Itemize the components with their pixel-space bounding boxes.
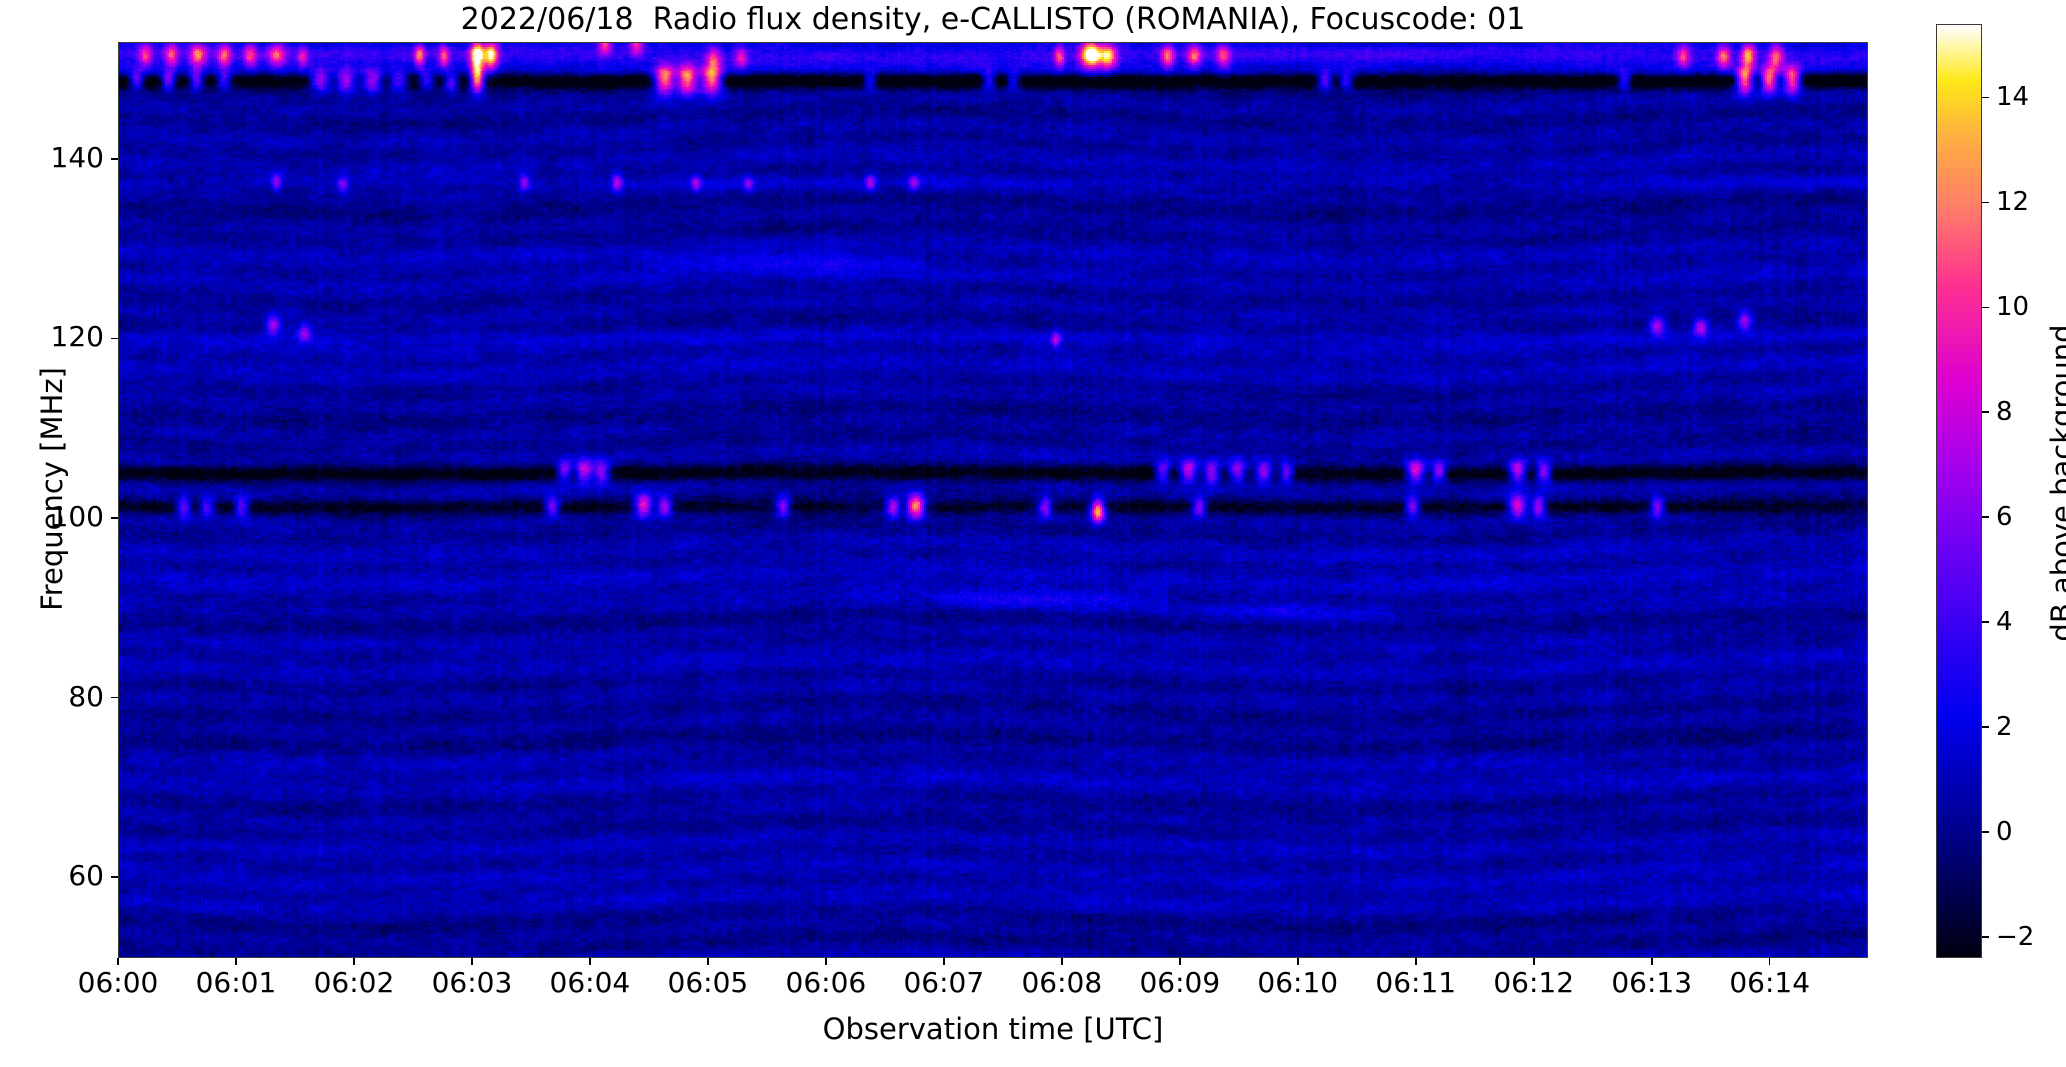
x-tick-mark [1061, 958, 1063, 965]
x-tick-label: 06:04 [550, 966, 631, 999]
x-tick-mark [825, 958, 827, 965]
x-tick-mark [1297, 958, 1299, 965]
colorbar[interactable] [1936, 24, 1982, 958]
colorbar-tick-label: 14 [1996, 82, 2029, 112]
colorbar-tick-mark [1982, 411, 1989, 413]
x-tick-mark [235, 958, 237, 965]
x-tick-label: 06:06 [786, 966, 867, 999]
y-tick-mark [111, 338, 118, 340]
spectrogram-plot-area[interactable] [118, 42, 1868, 958]
x-tick-label: 06:11 [1375, 966, 1456, 999]
x-tick-label: 06:12 [1493, 966, 1574, 999]
colorbar-tick-mark [1982, 831, 1989, 833]
x-tick-mark [1769, 958, 1771, 965]
colorbar-tick-mark [1982, 97, 1989, 99]
colorbar-tick-label: 10 [1996, 292, 2029, 322]
colorbar-tick-label: 6 [1996, 502, 2013, 532]
page-title: 2022/06/18 Radio flux density, e-CALLIST… [118, 2, 1868, 37]
x-tick-label: 06:01 [196, 966, 277, 999]
y-tick-mark [111, 158, 118, 160]
x-tick-mark [1651, 958, 1653, 965]
colorbar-label: dB above background [2045, 173, 2066, 793]
x-axis-label: Observation time [UTC] [118, 1012, 1868, 1046]
colorbar-tick-label: −2 [1996, 922, 2034, 952]
colorbar-tick-label: 8 [1996, 397, 2013, 427]
x-tick-label: 06:05 [668, 966, 749, 999]
x-tick-label: 06:00 [78, 966, 159, 999]
x-tick-mark [471, 958, 473, 965]
y-tick-mark [111, 517, 118, 519]
x-tick-label: 06:03 [432, 966, 513, 999]
colorbar-tick-mark [1982, 307, 1989, 309]
x-tick-label: 06:14 [1729, 966, 1810, 999]
figure-canvas: 2022/06/18 Radio flux density, e-CALLIST… [0, 0, 2066, 1067]
colorbar-tick-mark [1982, 936, 1989, 938]
x-tick-mark [1415, 958, 1417, 965]
colorbar-tick-mark [1982, 621, 1989, 623]
colorbar-tick-mark [1982, 726, 1989, 728]
x-tick-label: 06:13 [1611, 966, 1692, 999]
x-tick-mark [1179, 958, 1181, 965]
colorbar-tick-label: 4 [1996, 607, 2013, 637]
colorbar-tick-label: 0 [1996, 817, 2013, 847]
x-tick-mark [589, 958, 591, 965]
y-tick-label: 60 [32, 859, 104, 892]
x-tick-mark [353, 958, 355, 965]
x-tick-mark [1533, 958, 1535, 965]
y-tick-mark [111, 697, 118, 699]
x-tick-label: 06:07 [903, 966, 984, 999]
colorbar-gradient [1937, 25, 1981, 957]
colorbar-tick-mark [1982, 202, 1989, 204]
colorbar-tick-label: 2 [1996, 712, 2013, 742]
y-tick-label: 80 [32, 680, 104, 713]
spectrogram-image [119, 43, 1867, 957]
y-tick-label: 140 [32, 141, 104, 174]
colorbar-tick-mark [1982, 516, 1989, 518]
x-tick-mark [117, 958, 119, 965]
x-tick-label: 06:02 [314, 966, 395, 999]
y-tick-mark [111, 876, 118, 878]
x-tick-label: 06:09 [1139, 966, 1220, 999]
x-tick-mark [707, 958, 709, 965]
y-tick-label: 100 [32, 500, 104, 533]
x-tick-mark [943, 958, 945, 965]
colorbar-tick-label: 12 [1996, 187, 2029, 217]
y-tick-label: 120 [32, 320, 104, 353]
x-tick-label: 06:08 [1021, 966, 1102, 999]
x-tick-label: 06:10 [1257, 966, 1338, 999]
